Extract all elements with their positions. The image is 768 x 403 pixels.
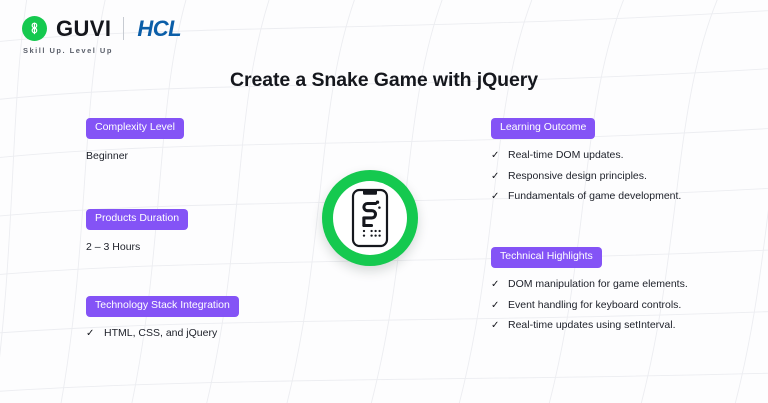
badge-technical-highlights: Technical Highlights: [491, 247, 602, 268]
list-item-label: Responsive design principles.: [508, 170, 647, 184]
list-item: ✓ DOM manipulation for game elements.: [491, 278, 688, 292]
badge-products-duration: Products Duration: [86, 209, 188, 230]
products-duration-value: 2 – 3 Hours: [86, 240, 188, 254]
check-icon: ✓: [491, 319, 500, 332]
hcl-wordmark: HCL: [137, 18, 181, 40]
guvi-wordmark: GUVI: [56, 18, 111, 40]
badge-technology-stack: Technology Stack Integration: [86, 296, 239, 317]
list-item-label: DOM manipulation for game elements.: [508, 278, 688, 292]
infographic-canvas: GUVI HCL Skill Up. Level Up Create a Sna…: [0, 0, 768, 403]
emblem-core: [333, 181, 407, 255]
brand-lockup: GUVI HCL Skill Up. Level Up: [22, 16, 181, 55]
list-item-label: Event handling for keyboard controls.: [508, 299, 681, 313]
list-item-label: Fundamentals of game development.: [508, 190, 681, 204]
check-icon: ✓: [491, 278, 500, 291]
learning-outcome-list: ✓ Real-time DOM updates. ✓ Responsive de…: [491, 149, 681, 205]
list-item: ✓ Real-time updates using setInterval.: [491, 319, 688, 333]
brand-logo-row: GUVI HCL: [22, 16, 181, 41]
section-technical-highlights: Technical Highlights ✓ DOM manipulation …: [491, 246, 688, 333]
section-products-duration: Products Duration 2 – 3 Hours: [86, 208, 188, 254]
technical-highlights-list: ✓ DOM manipulation for game elements. ✓ …: [491, 278, 688, 334]
section-technology-stack: Technology Stack Integration ✓ HTML, CSS…: [86, 295, 239, 341]
section-learning-outcome: Learning Outcome ✓ Real-time DOM updates…: [491, 117, 681, 204]
list-item-label: HTML, CSS, and jQuery: [104, 327, 217, 341]
phone-snake-icon: [351, 188, 389, 248]
check-icon: ✓: [491, 299, 500, 312]
badge-complexity-level: Complexity Level: [86, 118, 184, 139]
brand-tagline: Skill Up. Level Up: [23, 46, 181, 55]
guvi-logo-icon: [22, 16, 47, 41]
check-icon: ✓: [491, 190, 500, 203]
section-complexity-level: Complexity Level Beginner: [86, 117, 184, 163]
list-item: ✓ Real-time DOM updates.: [491, 149, 681, 163]
snake-game-emblem: [322, 170, 418, 266]
check-icon: ✓: [491, 149, 500, 162]
list-item: ✓ Event handling for keyboard controls.: [491, 299, 688, 313]
list-item: ✓ Fundamentals of game development.: [491, 190, 681, 204]
badge-learning-outcome: Learning Outcome: [491, 118, 595, 139]
technology-stack-list: ✓ HTML, CSS, and jQuery: [86, 327, 239, 341]
brand-divider: [123, 17, 124, 40]
complexity-level-value: Beginner: [86, 149, 184, 163]
check-icon: ✓: [491, 170, 500, 183]
page-title: Create a Snake Game with jQuery: [0, 69, 768, 92]
list-item-label: Real-time DOM updates.: [508, 149, 624, 163]
list-item: ✓ HTML, CSS, and jQuery: [86, 327, 239, 341]
check-icon: ✓: [86, 327, 96, 340]
list-item: ✓ Responsive design principles.: [491, 170, 681, 184]
list-item-label: Real-time updates using setInterval.: [508, 319, 676, 333]
